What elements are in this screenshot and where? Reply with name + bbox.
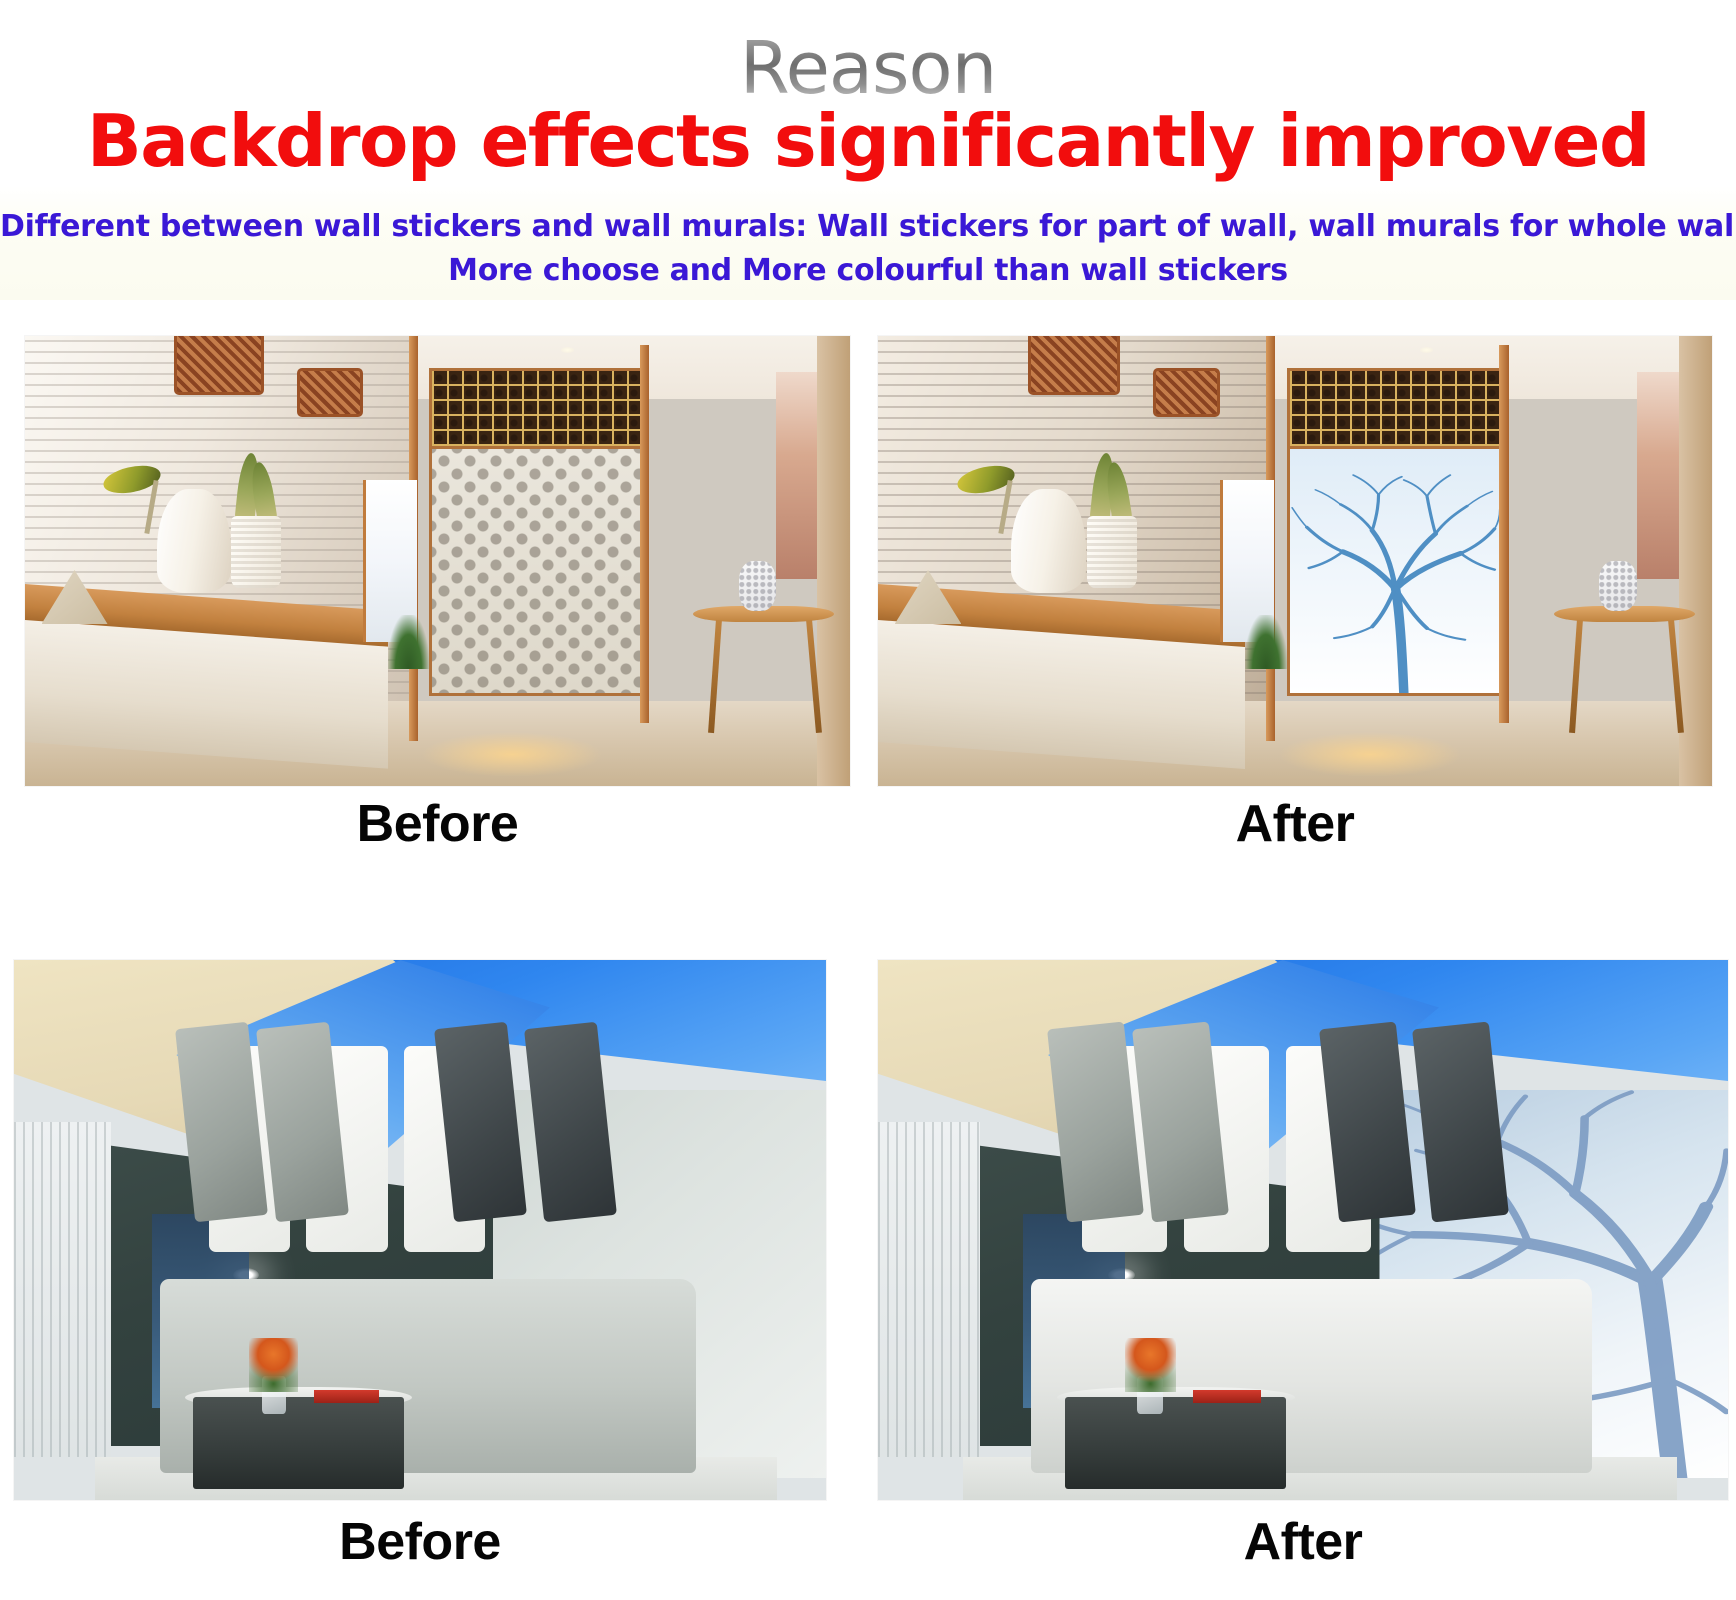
lattice-wall-art [174, 336, 265, 395]
caption-before-hallway: Before [25, 798, 850, 850]
door-frame [640, 345, 649, 723]
door-frame [1499, 345, 1508, 723]
ceiling-spotlight-icon [1420, 347, 1433, 352]
caption-after-living-room: After [878, 1516, 1728, 1568]
coffee-table [1065, 1397, 1286, 1489]
photo-hallway-before [25, 336, 850, 786]
photo-living-room-after [878, 960, 1728, 1500]
photo-living-room-before [14, 960, 826, 1500]
decorative-lattice-screen [1287, 368, 1504, 449]
side-wall [1679, 336, 1712, 786]
photo-hallway-after [878, 336, 1712, 786]
potted-plant [1245, 615, 1287, 669]
wall-panel-plain-wallpaper [429, 449, 644, 697]
white-vase-small [231, 516, 281, 588]
floor-light-reflection [421, 732, 603, 777]
door-panel [14, 1122, 111, 1457]
red-book [1193, 1390, 1261, 1403]
lattice-wall-art [297, 368, 363, 418]
caption-after-hallway: After [878, 798, 1712, 850]
decorative-vase [1599, 561, 1637, 611]
side-wall [817, 336, 850, 786]
white-vase-large [1011, 489, 1086, 593]
lattice-wall-art [1153, 368, 1220, 418]
coffee-table [193, 1397, 404, 1489]
white-vase-small [1087, 516, 1137, 588]
kicker-title: Reason [0, 32, 1736, 104]
console-table-body [25, 620, 388, 768]
lattice-wall-art [1028, 336, 1120, 395]
floor-light-reflection [1278, 732, 1461, 777]
red-book [314, 1390, 379, 1403]
product-banner: Reason Backdrop effects significantly im… [0, 0, 1736, 1600]
door-panel [878, 1122, 980, 1457]
wall-panel-tree-mural [1287, 449, 1504, 697]
caption-before-living-room: Before [14, 1516, 826, 1568]
ceiling-spotlight-icon [561, 347, 574, 352]
header: Reason Backdrop effects significantly im… [0, 0, 1736, 300]
flower-arrangement [249, 1338, 298, 1392]
tree-mural-icon [1290, 449, 1501, 694]
white-vase-large [157, 489, 231, 593]
subtitle-line-2: More choose and More colourful than wall… [0, 252, 1736, 290]
potted-plant [388, 615, 429, 669]
decorative-vase [739, 561, 776, 611]
page-title: Backdrop effects significantly improved [0, 104, 1736, 180]
subtitle-line-1: Different between wall stickers and wall… [0, 208, 1736, 246]
decorative-lattice-screen [429, 368, 644, 449]
flower-arrangement [1125, 1338, 1176, 1392]
